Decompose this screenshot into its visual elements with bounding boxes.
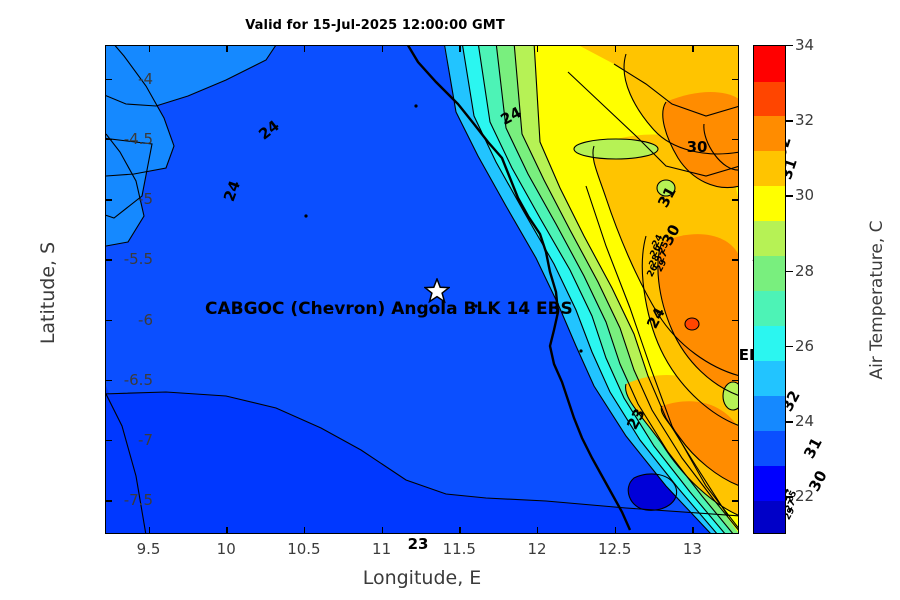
- x-tick-mark: [537, 527, 538, 534]
- colorbar-tick-label: 30: [795, 186, 835, 204]
- colorbar-tick-mark: [786, 120, 793, 121]
- weather-map-figure: Valid for 15-Jul-2025 12:00:00 GMT: [0, 0, 900, 600]
- y-tick-mark-right: [732, 380, 739, 381]
- colorbar-band: [754, 360, 785, 396]
- y-tick-mark-right: [732, 320, 739, 321]
- colorbar-tick-mark: [786, 195, 793, 196]
- x-tick-mark: [304, 527, 305, 534]
- x-tick-label: 9.5: [119, 540, 179, 558]
- y-tick-label: -6.5: [93, 371, 153, 389]
- station-label: CABGOC (Chevron) Angola BLK 14 EBS: [205, 299, 573, 319]
- x-axis-label: Longitude, E: [105, 567, 739, 589]
- y-tick-mark: [105, 320, 112, 321]
- y-tick-mark-right: [732, 139, 739, 140]
- colorbar-tick-label: 28: [795, 262, 835, 280]
- colorbar-band: [754, 430, 785, 466]
- colorbar-band: [754, 465, 785, 501]
- y-tick-label: -6: [93, 311, 153, 329]
- x-tick-mark: [459, 527, 460, 534]
- x-tick-mark: [226, 527, 227, 534]
- colorbar-band: [754, 116, 785, 152]
- x-tick-mark-top: [382, 45, 383, 52]
- y-tick-mark: [105, 380, 112, 381]
- colorbar-band: [754, 256, 785, 292]
- colorbar-tick-label: 26: [795, 337, 835, 355]
- x-tick-label: 11.5: [429, 540, 489, 558]
- colorbar-band: [754, 325, 785, 361]
- y-tick-label: -7.5: [93, 491, 153, 509]
- colorbar-band: [754, 395, 785, 431]
- y-tick-mark-right: [732, 500, 739, 501]
- x-tick-label: 10: [196, 540, 256, 558]
- colorbar-tick-mark: [786, 421, 793, 422]
- y-tick-mark-right: [732, 259, 739, 260]
- colorbar-band: [754, 81, 785, 117]
- y-axis-label: Latitude, S: [37, 128, 59, 458]
- colorbar-tick-label: 32: [795, 111, 835, 129]
- x-tick-label: 13: [662, 540, 722, 558]
- colorbar-tick-label: 22: [795, 487, 835, 505]
- y-tick-label: -4: [93, 70, 153, 88]
- y-tick-mark: [105, 259, 112, 260]
- y-tick-mark: [105, 79, 112, 80]
- colorbar-band: [754, 46, 785, 82]
- colorbar-band: [754, 500, 785, 534]
- colorbar-tick-mark: [786, 496, 793, 497]
- contour-map-svg: [106, 46, 739, 534]
- map-plot-area[interactable]: [105, 45, 739, 534]
- colorbar-tick-mark: [786, 45, 793, 46]
- y-tick-mark-right: [732, 199, 739, 200]
- colorbar-band: [754, 151, 785, 187]
- x-tick-mark: [615, 527, 616, 534]
- figure-title: Valid for 15-Jul-2025 12:00:00 GMT: [0, 18, 750, 33]
- y-tick-label: -4.5: [93, 130, 153, 148]
- y-tick-label: -5: [93, 190, 153, 208]
- x-tick-label: 12: [507, 540, 567, 558]
- colorbar-tick-mark: [786, 271, 793, 272]
- y-tick-mark-right: [732, 79, 739, 80]
- x-tick-label: 11: [352, 540, 412, 558]
- colorbar-tick-mark: [786, 346, 793, 347]
- y-tick-mark: [105, 199, 112, 200]
- y-tick-mark: [105, 440, 112, 441]
- x-tick-mark-top: [615, 45, 616, 52]
- colorbar-band: [754, 291, 785, 327]
- colorbar-title: Air Temperature, C: [867, 135, 887, 465]
- colorbar-tick-label: 34: [795, 36, 835, 54]
- x-tick-mark-top: [692, 45, 693, 52]
- colorbar-tick-label: 24: [795, 412, 835, 430]
- colorbar-band: [754, 186, 785, 222]
- x-tick-label: 12.5: [585, 540, 645, 558]
- contour-label: 31: [800, 435, 826, 462]
- colorbar-band: [754, 221, 785, 257]
- x-tick-mark: [149, 527, 150, 534]
- y-tick-mark-right: [732, 440, 739, 441]
- colorbar[interactable]: [753, 45, 786, 534]
- x-tick-mark-top: [226, 45, 227, 52]
- x-tick-mark-top: [149, 45, 150, 52]
- y-tick-mark: [105, 139, 112, 140]
- x-tick-mark-top: [459, 45, 460, 52]
- contour-label: 30: [687, 138, 708, 156]
- y-tick-label: -7: [93, 431, 153, 449]
- x-tick-mark: [382, 527, 383, 534]
- x-tick-label: 10.5: [274, 540, 334, 558]
- x-tick-mark-top: [304, 45, 305, 52]
- x-tick-mark: [692, 527, 693, 534]
- x-tick-mark-top: [537, 45, 538, 52]
- y-tick-label: -5.5: [93, 250, 153, 268]
- y-tick-mark: [105, 500, 112, 501]
